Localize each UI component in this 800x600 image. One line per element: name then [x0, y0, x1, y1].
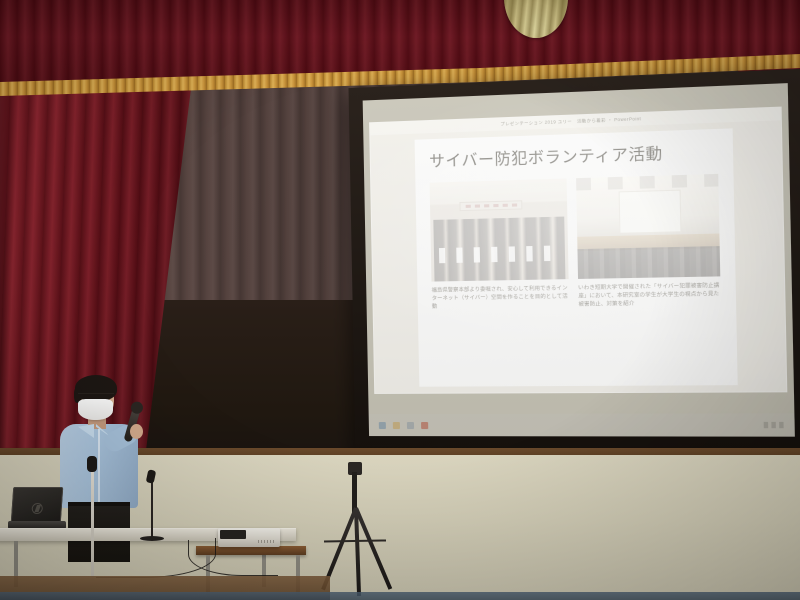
projection-screen: プレゼンテーション 2019 ユリー 活動から着彩 ・ PowerPoint サ…: [348, 69, 800, 458]
ceiling-lights: [576, 174, 718, 190]
laptop-logo-icon: [31, 503, 43, 514]
projected-desktop: プレゼンテーション 2019 ユリー 活動から着彩 ・ PowerPoint サ…: [363, 83, 795, 437]
window-title: プレゼンテーション 2019 ユリー 活動から着彩 ・ PowerPoint: [500, 116, 641, 127]
floor-microphone-stand: [91, 470, 94, 580]
powerpoint-icon[interactable]: [421, 421, 428, 428]
lecture-hall-photo: [576, 174, 720, 279]
network-icon[interactable]: [764, 422, 769, 428]
laptop-screen: [11, 487, 64, 523]
slide-title: サイバー防犯ボランティア活動: [429, 144, 718, 171]
camera-tripod: [300, 462, 410, 592]
award-ceremony-photo: [430, 179, 569, 282]
slide-canvas[interactable]: サイバー防犯ボランティア活動 福島県警察本部より委嘱され、安心して利用できるイン…: [415, 128, 738, 386]
clock-icon[interactable]: [779, 422, 784, 428]
lecture-audience: [577, 246, 720, 279]
volume-icon[interactable]: [771, 422, 776, 428]
folder-icon[interactable]: [393, 422, 400, 429]
certificates: [439, 245, 560, 264]
foreground-seating: [0, 592, 800, 600]
slide-photo-column-right: いわき短期大学で開催された「サイバー犯罪被害防止講座」において、本研究室の学生が…: [576, 174, 721, 309]
powerpoint-window[interactable]: プレゼンテーション 2019 ユリー 活動から着彩 ・ PowerPoint サ…: [369, 107, 787, 394]
lecture-projection-screen: [618, 189, 681, 233]
system-tray[interactable]: [764, 422, 784, 428]
browser-icon[interactable]: [407, 422, 414, 429]
presenter-hand: [130, 424, 143, 439]
photo-caption-left: 福島県警察本部より委嘱され、安心して利用できるインターネット（サイバー）空間を作…: [432, 284, 570, 311]
presentation-scene-photo: プレゼンテーション 2019 ユリー 活動から着彩 ・ PowerPoint サ…: [0, 0, 800, 600]
windows-taskbar[interactable]: [369, 413, 795, 436]
slide-photo-column-left: 福島県警察本部より委嘱され、安心して利用できるインターネット（サイバー）空間を作…: [430, 179, 570, 312]
screen-surface: プレゼンテーション 2019 ユリー 活動から着彩 ・ PowerPoint サ…: [363, 83, 795, 437]
face-mask-icon: [78, 399, 113, 420]
projector-lens: [220, 530, 246, 539]
start-icon[interactable]: [379, 422, 386, 429]
ceremony-banner: [460, 200, 523, 212]
desk-microphone-stand: [151, 480, 153, 540]
photo-caption-right: いわき短期大学で開催された「サイバー犯罪被害防止講座」において、本研究室の学生が…: [578, 282, 721, 309]
slide-photo-row: 福島県警察本部より委嘱され、安心して利用できるインターネット（サイバー）空間を作…: [430, 174, 721, 311]
